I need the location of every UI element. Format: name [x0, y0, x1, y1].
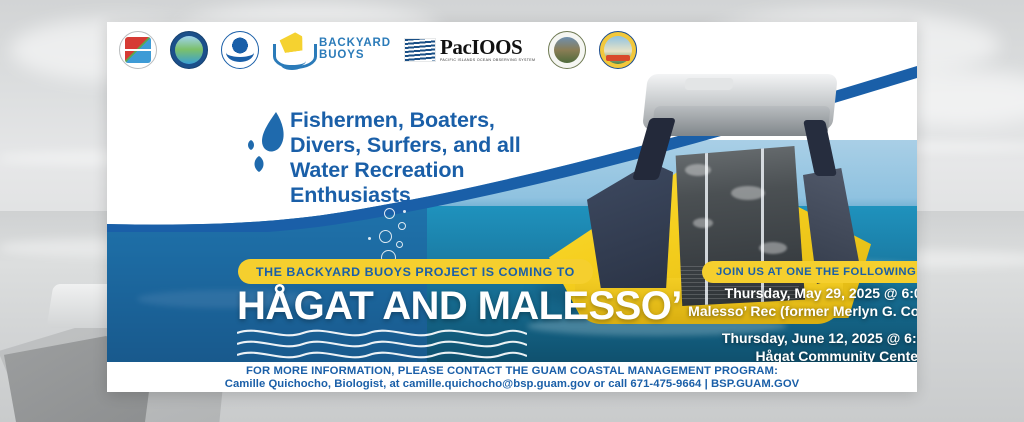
footer-line-2: Camille Quichocho, Biologist, at camille…: [225, 378, 800, 390]
headline-line-2: Divers, Surfers, and all: [290, 133, 521, 158]
project-announcement-pill: THE BACKYARD BUOYS PROJECT IS COMING TO: [238, 259, 593, 284]
backyard-buoys-line2: BUOYS: [319, 50, 391, 62]
bubble-icon: [368, 237, 371, 240]
water-splash-icon: [246, 110, 294, 178]
district-of-agat-seal: [548, 31, 586, 69]
bubble-icon: [398, 222, 406, 230]
bubble-icon: [396, 241, 403, 248]
meeting-datetime: Thursday, May 29, 2025 @ 6:00 pm: [667, 285, 917, 303]
meeting-item: Thursday, May 29, 2025 @ 6:00 pm Malesso…: [667, 285, 917, 321]
bubble-icon: [403, 210, 406, 213]
headline-line-4: Enthusiasts: [290, 183, 521, 208]
backyard-buoys-mark: [272, 32, 312, 68]
noaa-seal: [221, 31, 259, 69]
meeting-venue: Malesso’ Rec (former Merlyn G. Cook Scho…: [667, 303, 917, 321]
meeting-datetime: Thursday, June 12, 2025 @ 6:00 pm: [667, 330, 917, 348]
pacioos-mark: [404, 38, 436, 62]
headline-line-1: Fishermen, Boaters,: [290, 108, 521, 133]
bubble-icon: [384, 208, 395, 219]
wave-lines-graphic: [237, 327, 527, 361]
backyard-buoys-wordmark: BACKYARD BUOYS: [319, 38, 391, 61]
bureau-of-statistics-and-plans-seal: [119, 31, 157, 69]
partner-logo-strip: BACKYARD BUOYS PacIOOS PACIFIC ISLANDS O…: [107, 22, 917, 78]
page-title: HÅGAT AND MALESSO’: [237, 284, 682, 329]
contact-footer: FOR MORE INFORMATION, PLEASE CONTACT THE…: [107, 362, 917, 392]
flyer-card: BACKYARD BUOYS PacIOOS PACIFIC ISLANDS O…: [107, 22, 917, 392]
meetings-list: Thursday, May 29, 2025 @ 6:00 pm Malesso…: [667, 285, 917, 366]
pacioos-subtitle: PACIFIC ISLANDS OCEAN OBSERVING SYSTEM: [440, 58, 535, 62]
bubble-icon: [379, 230, 392, 243]
headline-block: Fishermen, Boaters, Divers, Surfers, and…: [290, 108, 521, 208]
meeting-item: Thursday, June 12, 2025 @ 6:00 pm Hågat …: [667, 330, 917, 366]
footer-line-1: FOR MORE INFORMATION, PLEASE CONTACT THE…: [246, 365, 778, 377]
pacioos-wordmark: PacIOOS: [440, 38, 535, 57]
headline-line-3: Water Recreation: [290, 158, 521, 183]
backyard-buoys-logo: BACKYARD BUOYS: [272, 32, 391, 68]
guam-coastal-management-program-seal: [170, 31, 208, 69]
pacioos-logo: PacIOOS PACIFIC ISLANDS OCEAN OBSERVING …: [404, 38, 535, 62]
guam-government-seal: [599, 31, 637, 69]
meetings-pill: JOIN US AT ONE THE FOLLOWING MEETINGS:: [702, 261, 917, 283]
